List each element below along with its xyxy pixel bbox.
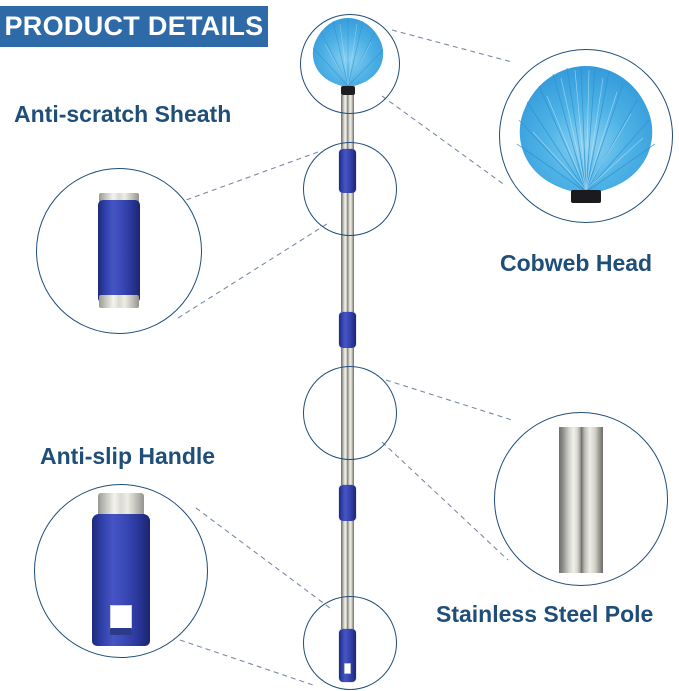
marker-circle-stainless-steel-pole	[303, 366, 397, 460]
product-sheath-segment-3	[339, 485, 356, 521]
marker-circle-cobweb-head	[300, 14, 400, 114]
marker-circle-anti-slip-handle	[303, 596, 397, 690]
marker-circle-anti-scratch-sheath	[303, 142, 397, 236]
product-details-infographic: PRODUCT DETAILS Anti-scratch Sheath Cobw…	[0, 0, 679, 691]
product-sheath-segment-2	[339, 312, 356, 348]
